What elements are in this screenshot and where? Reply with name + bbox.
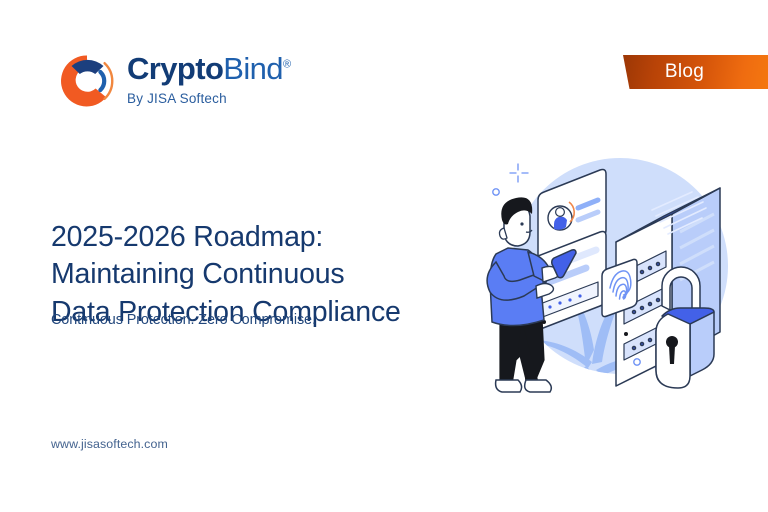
brand-subtitle: By JISA Softech [127, 91, 290, 106]
brand-wordmark: CryptoBind® [127, 53, 290, 84]
wordmark-bind: Bind [223, 51, 283, 86]
title-line-1: 2025-2026 Roadmap: [51, 219, 481, 256]
title-line-2: Maintaining Continuous [51, 256, 481, 293]
small-circle-dot [493, 189, 499, 195]
blog-ribbon-label: Blog [665, 61, 726, 83]
sparkle-dot [510, 164, 528, 182]
brand-logo[interactable]: CryptoBind® By JISA Softech [56, 50, 290, 112]
brand-wordmark-group: CryptoBind® By JISA Softech [127, 50, 290, 106]
cryptobind-donut-logo-icon [56, 50, 118, 112]
blog-ribbon-badge[interactable]: Blog [623, 55, 768, 89]
website-url[interactable]: www.jisasoftech.com [51, 437, 168, 451]
data-protection-illustration [474, 136, 760, 404]
page-subtitle: Continuous Protection. Zero Compromise. [51, 312, 481, 328]
wordmark-crypto: Crypto [127, 51, 223, 86]
registered-mark-icon: ® [283, 59, 291, 71]
poster-canvas: CryptoBind® By JISA Softech Blog 2025-20… [0, 0, 768, 512]
